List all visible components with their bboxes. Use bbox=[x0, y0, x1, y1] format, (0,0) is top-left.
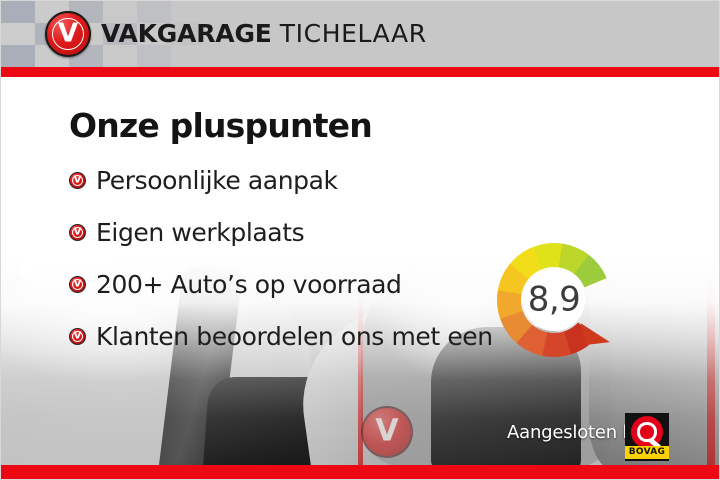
benefit-label: Klanten beoordelen ons met een bbox=[96, 320, 493, 354]
bovag-logo-icon[interactable]: BOVAG bbox=[625, 413, 669, 461]
checker-square bbox=[1, 45, 35, 67]
page-title: Onze pluspunten bbox=[69, 106, 372, 145]
vakgarage-v-badge-icon: V bbox=[45, 11, 91, 57]
rating-score: 8,9 bbox=[495, 282, 613, 316]
v-badge-bullet-icon: V bbox=[69, 276, 86, 293]
header-title: VAKGARAGE TICHELAAR bbox=[101, 19, 427, 48]
watermark-letter: V bbox=[363, 416, 411, 446]
affiliation-label: Aangesloten bij bbox=[507, 422, 643, 443]
benefit-item: VPersoonlijke aanpak bbox=[69, 164, 539, 216]
benefits-list: VPersoonlijke aanpakVEigen werkplaatsV20… bbox=[69, 164, 539, 372]
header-bar: V VAKGARAGE TICHELAAR bbox=[1, 1, 720, 67]
checker-square bbox=[1, 1, 35, 23]
bullet-letter: V bbox=[70, 227, 85, 237]
bottom-red-rule bbox=[1, 465, 720, 480]
v-badge-bullet-icon: V bbox=[69, 328, 86, 345]
sub-brand-name: TICHELAAR bbox=[280, 19, 427, 48]
gauge-pointer-icon bbox=[580, 323, 609, 345]
benefit-label: 200+ Auto’s op voorraad bbox=[96, 268, 402, 302]
checker-square bbox=[1, 23, 35, 45]
checker-square bbox=[137, 45, 171, 67]
bovag-mark bbox=[631, 416, 663, 448]
vakgarage-logo[interactable]: V bbox=[45, 11, 91, 57]
rating-gauge-icon: 8,9 bbox=[495, 241, 613, 359]
v-badge-bullet-icon: V bbox=[69, 224, 86, 241]
v-badge-letter: V bbox=[47, 20, 89, 46]
brand-name: VAKGARAGE bbox=[101, 19, 272, 48]
benefit-label: Eigen werkplaats bbox=[96, 216, 304, 250]
bullet-letter: V bbox=[70, 175, 85, 185]
vakgarage-banner: V VAKGARAGE TICHELAAR Onze pluspunten VP… bbox=[0, 0, 720, 480]
top-red-rule bbox=[1, 67, 720, 77]
v-badge-bullet-icon: V bbox=[69, 172, 86, 189]
benefit-label: Persoonlijke aanpak bbox=[96, 164, 338, 198]
checker-square bbox=[171, 45, 205, 67]
benefit-item: VEigen werkplaats bbox=[69, 216, 539, 268]
bullet-letter: V bbox=[70, 331, 85, 341]
bullet-letter: V bbox=[70, 279, 85, 289]
benefit-item: V200+ Auto’s op voorraad bbox=[69, 268, 539, 320]
checker-square bbox=[103, 45, 137, 67]
vakgarage-watermark-icon: V bbox=[361, 406, 413, 458]
benefit-item: VKlanten beoordelen ons met een bbox=[69, 320, 539, 372]
bovag-wordmark: BOVAG bbox=[625, 446, 669, 459]
